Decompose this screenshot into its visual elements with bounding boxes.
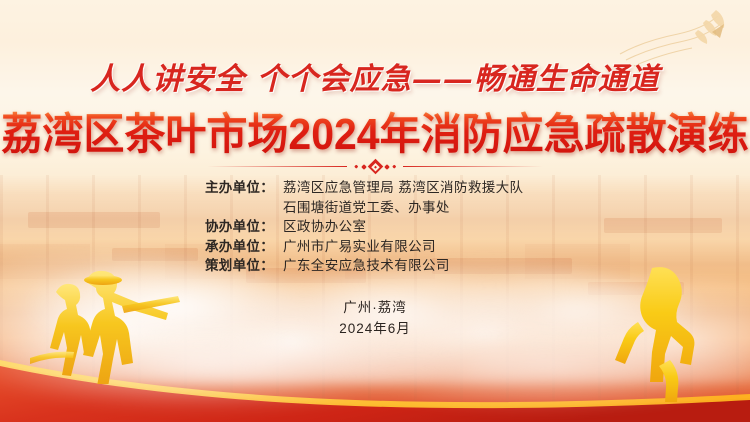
- footer-info: 广州·荔湾 2024年6月: [0, 297, 750, 339]
- organizer-label: 协办单位：: [192, 217, 274, 237]
- organizer-value: 区政协办公室: [274, 217, 558, 237]
- poster-canvas: 人人讲安全 个个会应急——畅通生命通道 荔湾区茶叶市场2024年消防应急疏散演练…: [0, 0, 750, 422]
- divider-rule-right: [403, 166, 543, 167]
- organizer-label: 策划单位：: [192, 256, 274, 276]
- event-date: 2024年6月: [0, 318, 750, 339]
- ornament-dot: [354, 165, 358, 169]
- organizer-label: 承办单位：: [192, 237, 274, 257]
- organizer-row: 协办单位： 区政协办公室: [192, 217, 558, 237]
- ornament-dot: [361, 164, 367, 170]
- organizer-value-continuation: 石围塘街道党工委、办事处: [274, 198, 558, 218]
- organizer-value: 广州市广易实业有限公司: [274, 237, 558, 257]
- page-title: 荔湾区茶叶市场2024年消防应急疏散演练: [0, 98, 750, 162]
- poster-slogan: 人人讲安全 个个会应急——畅通生命通道: [0, 54, 750, 98]
- organizer-row-continuation: 石围塘街道党工委、办事处: [192, 198, 558, 218]
- poster-content: 人人讲安全 个个会应急——畅通生命通道 荔湾区茶叶市场2024年消防应急疏散演练…: [0, 0, 750, 422]
- organizer-row: 承办单位： 广州市广易实业有限公司: [192, 237, 558, 257]
- organizer-block: 主办单位： 荔湾区应急管理局 荔湾区消防救援大队 石围塘街道党工委、办事处 协办…: [0, 178, 750, 276]
- ornament-dot: [392, 165, 396, 169]
- organizer-label: 主办单位：: [192, 178, 274, 198]
- organizer-row: 策划单位： 广东全安应急技术有限公司: [192, 256, 558, 276]
- divider-ornament: [0, 161, 750, 172]
- event-location: 广州·荔湾: [0, 297, 750, 318]
- organizer-row: 主办单位： 荔湾区应急管理局 荔湾区消防救援大队: [192, 178, 558, 198]
- organizer-value: 荔湾区应急管理局 荔湾区消防救援大队: [274, 178, 558, 198]
- ornament-dot: [384, 164, 390, 170]
- divider-rule-left: [207, 166, 347, 167]
- ornament-diamond: [367, 159, 383, 175]
- diamond-ornament-icon: [355, 161, 395, 172]
- organizer-value: 广东全安应急技术有限公司: [274, 256, 558, 276]
